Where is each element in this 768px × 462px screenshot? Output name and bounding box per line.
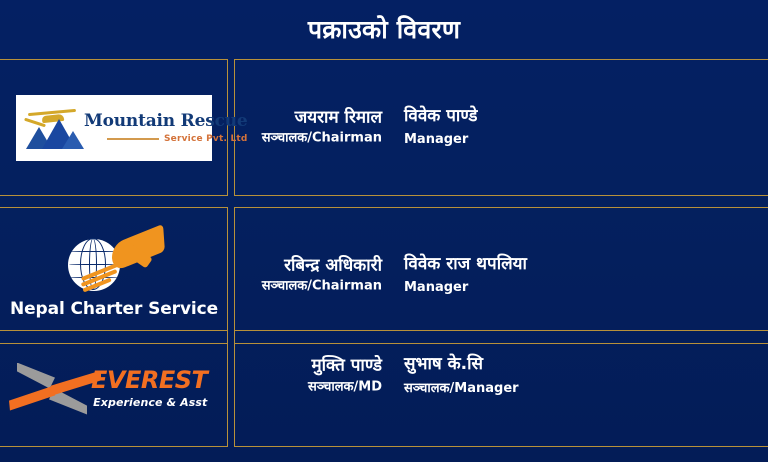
mountain-helicopter-icon	[22, 103, 84, 153]
person-name: मुक्ति पाण्डे	[234, 355, 382, 378]
person-role: सञ्चालक/MD	[234, 379, 382, 398]
divider-rule	[107, 138, 159, 140]
person-role: Manager	[404, 132, 734, 151]
everest-arrow-icon	[9, 359, 95, 419]
logo-name: EVEREST	[91, 368, 207, 392]
logo-tagline: Experience & Asst	[93, 396, 207, 409]
person-role: सञ्चालक/Chairman	[234, 278, 382, 297]
globe-airplane-icon	[60, 233, 168, 295]
person-role: सञ्चालक/Chairman	[234, 130, 382, 149]
person-role: सञ्चालक/Manager	[404, 380, 734, 399]
person-name: सुभाष के.सि	[404, 353, 734, 376]
entry-row: Mountain Rescue Service Pvt. Ltd जयराम र…	[0, 59, 768, 196]
nepal-charter-logo-card: Nepal Charter Service	[12, 233, 217, 319]
person-name: जयराम रिमाल	[234, 106, 382, 129]
company-logo-mountain-rescue: Mountain Rescue Service Pvt. Ltd	[0, 59, 228, 196]
manager-block: विवेक पाण्डे Manager	[404, 105, 734, 151]
chairman-block: जयराम रिमाल सञ्चालक/Chairman	[234, 106, 382, 149]
mountain-rescue-wordmark: Mountain Rescue Service Pvt. Ltd	[84, 111, 250, 144]
everest-wordmark: EVEREST Experience & Asst	[91, 368, 207, 409]
everest-logo-card: EVEREST Experience & Asst	[9, 359, 219, 419]
person-role: Manager	[404, 280, 734, 299]
company-logo-everest: EVEREST Experience & Asst	[0, 330, 228, 447]
chairman-block: रबिन्द्र अधिकारी सञ्चालक/Chairman	[234, 254, 382, 297]
page-title: पक्राउको विवरण	[0, 16, 768, 44]
entry-row: Nepal Charter Service रबिन्द्र अधिकारी स…	[0, 207, 768, 344]
mountain-rescue-logo-card: Mountain Rescue Service Pvt. Ltd	[16, 95, 212, 161]
entry-row: EVEREST Experience & Asst मुक्ति पाण्डे …	[0, 355, 768, 447]
chairman-block: मुक्ति पाण्डे सञ्चालक/MD	[234, 355, 382, 398]
person-name: विवेक राज थपलिया	[404, 253, 734, 276]
logo-tagline-row: Service Pvt. Ltd	[84, 134, 248, 144]
manager-block: सुभाष के.सि सञ्चालक/Manager	[404, 353, 734, 399]
company-logo-nepal-charter-service: Nepal Charter Service	[0, 207, 228, 344]
person-name: रबिन्द्र अधिकारी	[234, 254, 382, 277]
slide-root: पक्राउको विवरण Mountain Rescue Service P…	[0, 0, 768, 462]
logo-name: Mountain Rescue	[84, 111, 248, 131]
manager-block: विवेक राज थपलिया Manager	[404, 253, 734, 299]
person-name: विवेक पाण्डे	[404, 105, 734, 128]
logo-name: Nepal Charter Service	[10, 299, 218, 319]
